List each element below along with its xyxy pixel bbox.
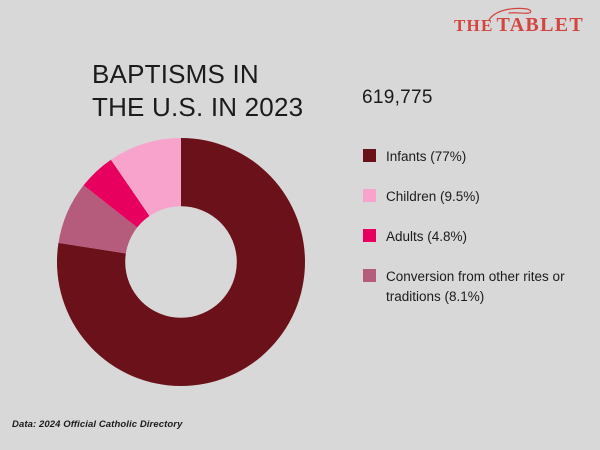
- legend-item-infants: Infants (77%): [363, 147, 591, 166]
- logo-tablet-rest: ABLET: [510, 14, 584, 36]
- logo-the-text: THE: [454, 16, 494, 36]
- legend-swatch-children: [363, 189, 376, 202]
- legend-label-children: Children (9.5%): [386, 187, 480, 206]
- legend-swatch-adults: [363, 229, 376, 242]
- legend-swatch-infants: [363, 149, 376, 162]
- the-tablet-logo: THE TABLET: [454, 14, 584, 37]
- donut-chart: [57, 138, 305, 386]
- donut-hole: [125, 206, 237, 318]
- legend-label-adults: Adults (4.8%): [386, 227, 467, 246]
- total-baptisms-value: 619,775: [362, 87, 433, 109]
- logo-initial: T: [497, 14, 510, 36]
- legend-item-children: Children (9.5%): [363, 187, 591, 206]
- legend-label-infants: Infants (77%): [386, 147, 466, 166]
- logo-tablet-text: TABLET: [497, 14, 584, 37]
- donut-chart-svg: [57, 138, 305, 386]
- legend-item-conversion: Conversion from other rites or tradition…: [363, 267, 591, 305]
- source-note: Data: 2024 Official Catholic Directory: [12, 419, 182, 430]
- legend-swatch-conversion: [363, 269, 376, 282]
- legend-item-adults: Adults (4.8%): [363, 227, 591, 246]
- chart-legend: Infants (77%) Children (9.5%) Adults (4.…: [363, 147, 591, 327]
- legend-label-conversion: Conversion from other rites or tradition…: [386, 267, 591, 305]
